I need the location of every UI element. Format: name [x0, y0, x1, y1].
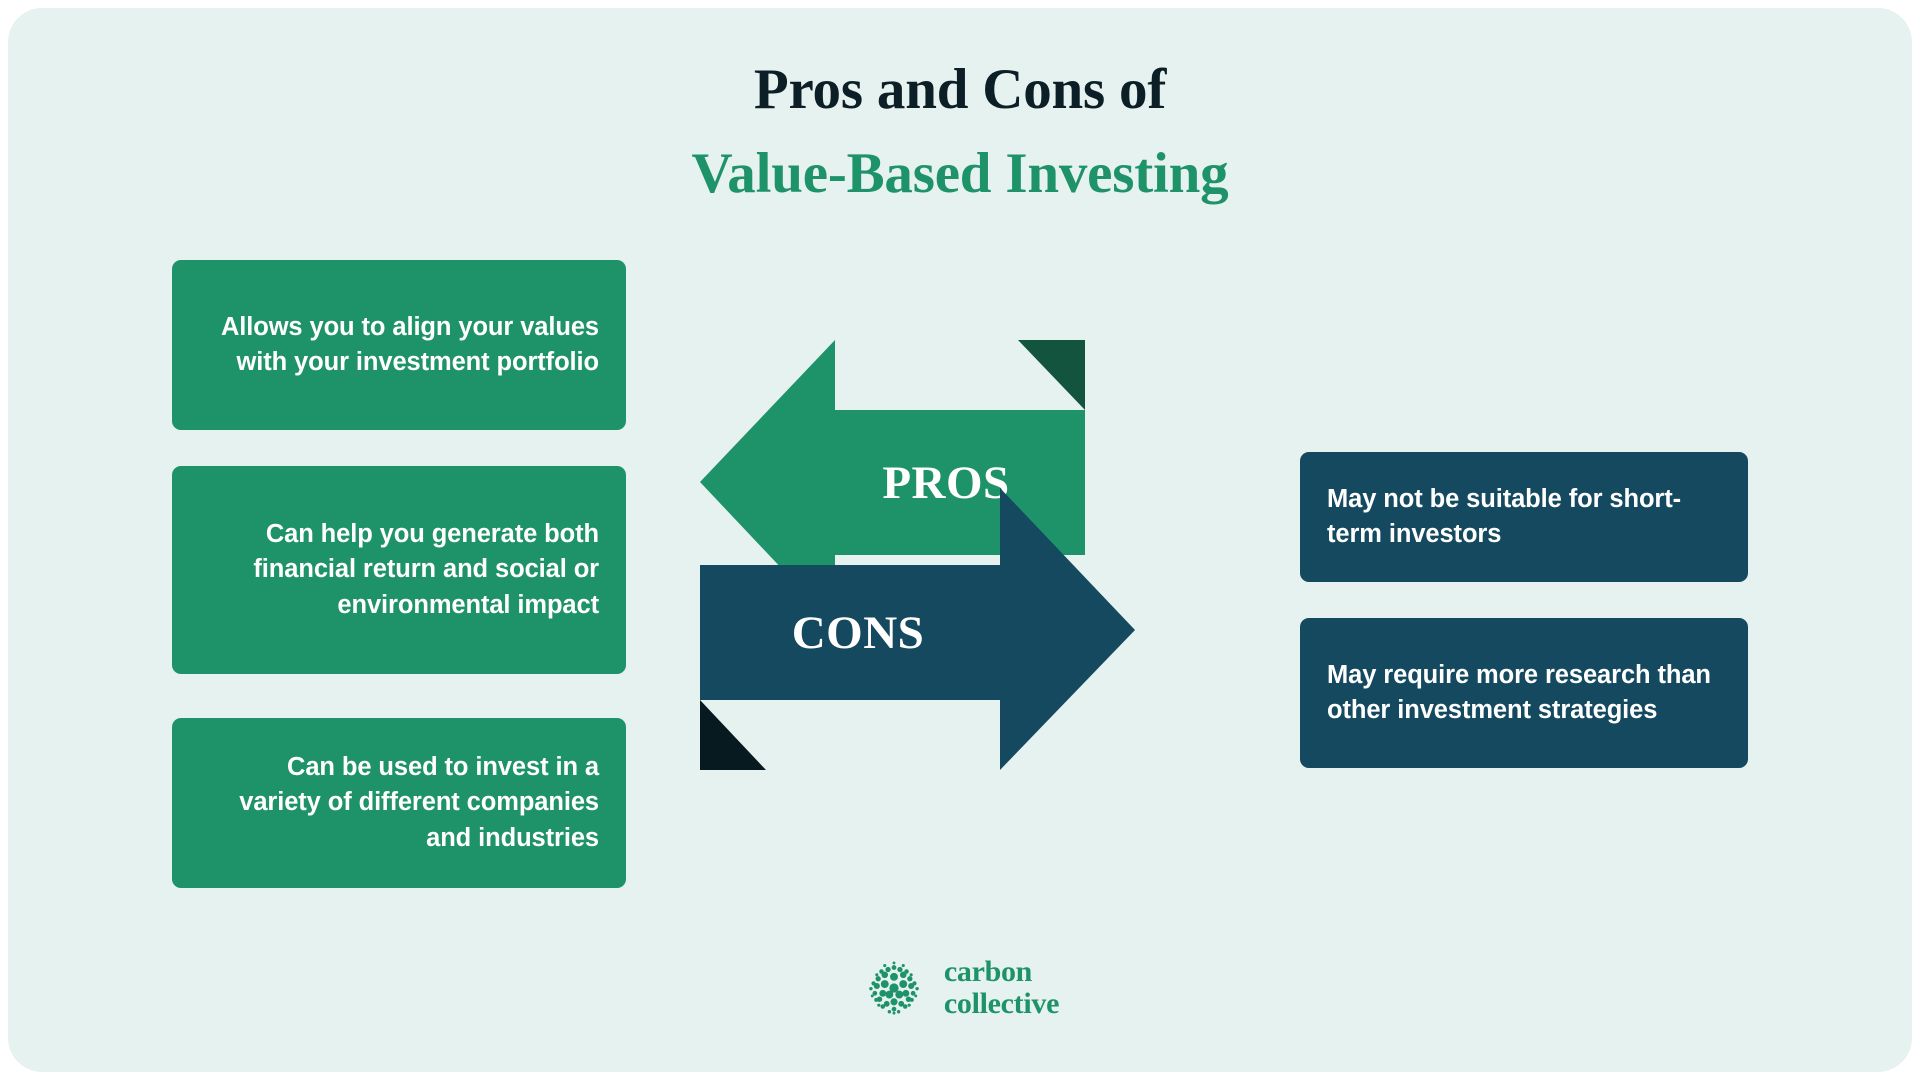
arrows-group: PROS CONS	[700, 340, 1200, 840]
con-card-2: May require more research than other inv…	[1300, 618, 1748, 768]
arrows-svg: PROS CONS	[700, 340, 1200, 840]
pros-arrow-fold	[1018, 340, 1085, 410]
brand-logo-text: carbon collective	[944, 956, 1059, 1020]
pro-card-2-text: Can help you generate both financial ret…	[199, 517, 599, 623]
pro-card-3: Can be used to invest in a variety of di…	[172, 718, 626, 888]
brand-logo: carbon collective	[0, 955, 1920, 1021]
pro-card-2: Can help you generate both financial ret…	[172, 466, 626, 674]
pros-arrow-label: PROS	[882, 457, 1009, 509]
page-title: Pros and Cons of Value-Based Investing	[0, 58, 1920, 207]
con-card-2-text: May require more research than other inv…	[1327, 658, 1721, 728]
con-card-1-text: May not be suitable for short-term inves…	[1327, 482, 1721, 552]
pro-card-1-text: Allows you to align your values with you…	[199, 310, 599, 380]
infographic-canvas: Pros and Cons of Value-Based Investing A…	[0, 0, 1920, 1080]
title-line-secondary: Value-Based Investing	[0, 142, 1920, 207]
title-line-primary: Pros and Cons of	[0, 58, 1920, 123]
brand-name-line1: carbon	[944, 956, 1059, 988]
brand-name-line2: collective	[944, 988, 1059, 1020]
pro-card-1: Allows you to align your values with you…	[172, 260, 626, 430]
pro-card-3-text: Can be used to invest in a variety of di…	[199, 750, 599, 856]
carbon-collective-dots-icon	[861, 955, 927, 1021]
cons-arrow-fold	[700, 700, 766, 770]
con-card-1: May not be suitable for short-term inves…	[1300, 452, 1748, 582]
cons-arrow-label: CONS	[792, 607, 925, 659]
